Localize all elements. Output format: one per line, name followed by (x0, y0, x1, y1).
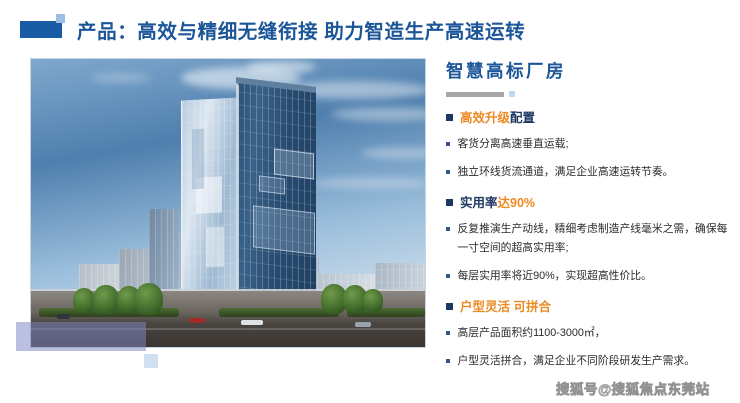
cloud-shape (331, 107, 426, 121)
dot-bullet-icon (446, 274, 450, 278)
dot-bullet-icon (446, 331, 450, 335)
panel-heading: 智慧高标厂房 (446, 58, 734, 83)
car-shape (355, 322, 371, 327)
building-rendering-image (30, 58, 426, 348)
list-item-text: 高层产品面积约1100-3000㎡， (458, 324, 735, 343)
photo-sky (31, 59, 425, 347)
slide-canvas: 产品：高效与精细无缝衔接 助力智造生产高速运转 (0, 0, 740, 403)
heading-underline-dot (509, 91, 515, 97)
slide-title-bar: 产品：高效与精细无缝衔接 助力智造生产高速运转 (0, 0, 740, 52)
image-overlay-band (16, 322, 146, 351)
image-overlay-accent-square (144, 354, 158, 368)
list-item-text: 户型灵活拼合，满足企业不同阶段研发生产需求。 (458, 352, 735, 371)
list-item: 客货分离高速垂直运载; (446, 135, 734, 154)
section-heading-highlight: 户型灵活 可拼合 (460, 300, 551, 314)
section-heading-highlight: 达90% (498, 196, 536, 210)
facade-panel (259, 175, 285, 194)
main-tower-glass-facade (238, 81, 316, 323)
content-panel: 智慧高标厂房 高效升级配置 客货分离高速垂直运载; 独立环线货流通道，满足企业高… (446, 58, 734, 371)
cloud-shape (311, 177, 426, 189)
tower-corner-edge (236, 85, 239, 320)
car-shape (189, 318, 205, 323)
title-decoration-block (20, 21, 62, 38)
facade-panel (274, 149, 314, 180)
tree-shape (363, 289, 383, 312)
tree-shape (135, 283, 163, 315)
list-item: 高层产品面积约1100-3000㎡， (446, 324, 734, 343)
list-item: 每层实用率将近90%，实现超高性价比。 (446, 267, 734, 286)
facade-panel (206, 227, 224, 268)
cloud-shape (246, 61, 316, 73)
section-heading-rest: 配置 (510, 111, 535, 125)
feature-section-utilization: 实用率达90% 反复推演生产动线，精细考虑制造产线毫米之需，确保每一寸空间的超高… (446, 195, 734, 286)
facade-panel (253, 205, 315, 255)
list-item: 独立环线货流通道，满足企业高速运转节奏。 (446, 163, 734, 182)
list-item-text: 独立环线货流通道，满足企业高速运转节奏。 (458, 163, 735, 182)
dot-bullet-icon (446, 359, 450, 363)
watermark-text: 搜狐号@搜狐焦点东莞站 (556, 378, 710, 398)
feature-section-flexible-layout: 户型灵活 可拼合 高层产品面积约1100-3000㎡， 户型灵活拼合，满足企业不… (446, 299, 734, 371)
square-bullet-icon (446, 114, 453, 121)
dot-bullet-icon (446, 142, 450, 146)
section-heading: 户型灵活 可拼合 (446, 299, 734, 315)
cloud-shape (361, 147, 426, 159)
list-item-text: 每层实用率将近90%，实现超高性价比。 (458, 267, 735, 286)
list-item: 反复推演生产动线，精细考虑制造产线毫米之需，确保每一寸空间的超高实用率; (446, 220, 734, 258)
cloud-shape (91, 73, 151, 83)
tree-shape (93, 285, 119, 314)
list-item: 户型灵活拼合，满足企业不同阶段研发生产需求。 (446, 352, 734, 371)
list-item-text: 客货分离高速垂直运载; (458, 135, 735, 154)
square-bullet-icon (446, 303, 453, 310)
tree-shape (73, 288, 95, 313)
title-decoration-accent-square (56, 14, 65, 23)
heading-underline-bar (446, 92, 504, 97)
list-item-text: 反复推演生产动线，精细考虑制造产线毫米之需，确保每一寸空间的超高实用率; (458, 220, 735, 258)
dot-bullet-icon (446, 170, 450, 174)
car-shape (241, 320, 263, 325)
square-bullet-icon (446, 199, 453, 206)
section-heading-highlight: 高效升级 (460, 111, 510, 125)
hedge-row (219, 308, 339, 317)
section-heading-rest: 实用率 (460, 196, 498, 210)
facade-panel (192, 129, 204, 190)
section-heading: 高效升级配置 (446, 110, 734, 126)
car-shape (57, 314, 70, 319)
heading-underline-group (446, 91, 734, 97)
section-heading: 实用率达90% (446, 195, 734, 211)
page-title: 产品：高效与精细无缝衔接 助力智造生产高速运转 (77, 15, 525, 44)
dot-bullet-icon (446, 227, 450, 231)
feature-section-efficiency: 高效升级配置 客货分离高速垂直运载; 独立环线货流通道，满足企业高速运转节奏。 (446, 110, 734, 182)
